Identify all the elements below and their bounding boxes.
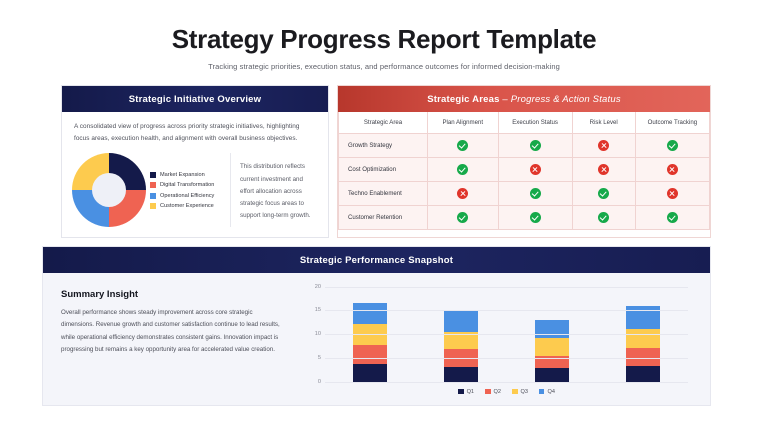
bar xyxy=(444,310,478,382)
right-panel-header-italic: Progress & Action Status xyxy=(511,94,621,105)
legend-item: Customer Experience xyxy=(150,203,214,209)
column-header-plan-alignment: Plan Alignment xyxy=(428,112,498,134)
bottom-panel-header: Strategic Performance Snapshot xyxy=(43,247,710,273)
right-panel-header: Strategic Areas – Progress & Action Stat… xyxy=(338,86,710,112)
distribution-note: This distribution reflects current inves… xyxy=(230,153,320,227)
cross-circle-icon xyxy=(530,164,541,175)
check-circle-icon xyxy=(598,188,609,199)
bar xyxy=(626,306,660,382)
cell-plan-alignment xyxy=(428,158,498,182)
bar-segment-q4 xyxy=(353,303,387,323)
cell-risk-level xyxy=(572,134,635,158)
status-table: Strategic Area Plan Alignment Execution … xyxy=(338,112,710,230)
cell-outcome-tracking xyxy=(635,182,709,206)
bar-chart: 05101520 xyxy=(325,287,688,382)
bar-chart-block: 05101520 Q1Q2Q3Q4 xyxy=(295,281,696,395)
bar-segment-q4 xyxy=(626,306,660,329)
page-subtitle: Tracking strategic priorities, execution… xyxy=(0,62,768,71)
bar-segment-q4 xyxy=(535,320,569,338)
legend-swatch-icon xyxy=(150,193,156,199)
gridline xyxy=(325,358,688,359)
strategic-initiative-overview-panel: Strategic Initiative Overview A consolid… xyxy=(61,85,329,238)
cell-strategic-area: Customer Retention xyxy=(339,206,428,230)
legend-swatch-icon xyxy=(539,389,545,395)
cell-risk-level xyxy=(572,182,635,206)
y-axis-tick: 5 xyxy=(303,355,321,361)
gridline xyxy=(325,334,688,335)
left-panel-body: Market Expansion Digital Transformation … xyxy=(62,153,328,237)
right-panel-header-sep: – xyxy=(500,94,511,105)
legend-swatch-icon xyxy=(150,172,156,178)
cell-outcome-tracking xyxy=(635,158,709,182)
check-circle-icon xyxy=(667,140,678,151)
bar-segment-q3 xyxy=(535,338,569,356)
legend-label: Q3 xyxy=(521,389,528,395)
legend-swatch-icon xyxy=(485,389,491,395)
top-row: Strategic Initiative Overview A consolid… xyxy=(61,85,711,238)
strategic-performance-snapshot-panel: Strategic Performance Snapshot Summary I… xyxy=(42,246,711,406)
cell-execution-status xyxy=(498,206,572,230)
check-circle-icon xyxy=(457,164,468,175)
donut-hole xyxy=(92,173,126,207)
page-title: Strategy Progress Report Template xyxy=(0,24,768,55)
table-row: Techno Enablement xyxy=(339,182,710,206)
cell-plan-alignment xyxy=(428,134,498,158)
legend-item: Market Expansion xyxy=(150,172,214,178)
cross-circle-icon xyxy=(457,188,468,199)
column-header-risk-level: Risk Level xyxy=(572,112,635,134)
bar-segment-q1 xyxy=(626,366,660,382)
cell-outcome-tracking xyxy=(635,206,709,230)
legend-swatch-icon xyxy=(512,389,518,395)
legend-label: Q1 xyxy=(467,389,474,395)
check-circle-icon xyxy=(598,212,609,223)
table-row: Growth Strategy xyxy=(339,134,710,158)
distribution-note-text: This distribution reflects current inves… xyxy=(240,161,314,221)
legend-item: Q3 xyxy=(512,389,528,395)
cell-outcome-tracking xyxy=(635,134,709,158)
cross-circle-icon xyxy=(667,164,678,175)
y-axis-tick: 20 xyxy=(303,284,321,290)
cell-strategic-area: Techno Enablement xyxy=(339,182,428,206)
bar-segment-q3 xyxy=(626,329,660,348)
cell-plan-alignment xyxy=(428,206,498,230)
bottom-panel-body: Summary Insight Overall performance show… xyxy=(43,273,710,405)
summary-insight-block: Summary Insight Overall performance show… xyxy=(43,281,295,395)
legend-label: Customer Experience xyxy=(160,203,214,209)
legend-item: Q2 xyxy=(485,389,501,395)
cross-circle-icon xyxy=(667,188,678,199)
status-table-body: Growth StrategyCost OptimizationTechno E… xyxy=(339,134,710,230)
cell-risk-level xyxy=(572,206,635,230)
legend-label: Operational Efficiency xyxy=(160,193,214,199)
gridline xyxy=(325,310,688,311)
column-header-execution-status: Execution Status xyxy=(498,112,572,134)
check-circle-icon xyxy=(457,212,468,223)
bar xyxy=(353,303,387,381)
right-panel-header-bold: Strategic Areas xyxy=(427,94,499,105)
column-header-strategic-area: Strategic Area xyxy=(339,112,428,134)
legend-item: Q1 xyxy=(458,389,474,395)
strategic-areas-panel: Strategic Areas – Progress & Action Stat… xyxy=(337,85,711,238)
table-row: Customer Retention xyxy=(339,206,710,230)
cell-execution-status xyxy=(498,134,572,158)
check-circle-icon xyxy=(530,140,541,151)
title-block: Strategy Progress Report Template Tracki… xyxy=(0,0,768,71)
legend-label: Q4 xyxy=(547,389,554,395)
cell-plan-alignment xyxy=(428,182,498,206)
legend-swatch-icon xyxy=(150,203,156,209)
legend-item: Digital Transformation xyxy=(150,182,214,188)
check-circle-icon xyxy=(667,212,678,223)
bar-segment-q1 xyxy=(535,368,569,381)
cross-circle-icon xyxy=(598,140,609,151)
cell-risk-level xyxy=(572,158,635,182)
legend-label: Digital Transformation xyxy=(160,182,214,188)
bar xyxy=(535,320,569,382)
cell-execution-status xyxy=(498,158,572,182)
cell-execution-status xyxy=(498,182,572,206)
donut-legend: Market Expansion Digital Transformation … xyxy=(150,170,214,210)
legend-label: Market Expansion xyxy=(160,172,205,178)
summary-insight-text: Overall performance shows steady improve… xyxy=(61,307,281,357)
y-axis-tick: 0 xyxy=(303,379,321,385)
left-panel-header: Strategic Initiative Overview xyxy=(62,86,328,112)
gridline xyxy=(325,287,688,288)
legend-swatch-icon xyxy=(150,182,156,188)
legend-item: Operational Efficiency xyxy=(150,193,214,199)
legend-label: Q2 xyxy=(494,389,501,395)
legend-swatch-icon xyxy=(458,389,464,395)
y-axis-tick: 10 xyxy=(303,331,321,337)
cross-circle-icon xyxy=(598,164,609,175)
bar-chart-legend: Q1Q2Q3Q4 xyxy=(325,389,688,395)
summary-insight-title: Summary Insight xyxy=(61,289,281,300)
table-header-row: Strategic Area Plan Alignment Execution … xyxy=(339,112,710,134)
check-circle-icon xyxy=(530,188,541,199)
cell-strategic-area: Cost Optimization xyxy=(339,158,428,182)
slide: Strategy Progress Report Template Tracki… xyxy=(0,0,768,432)
check-circle-icon xyxy=(530,212,541,223)
cell-strategic-area: Growth Strategy xyxy=(339,134,428,158)
donut-chart xyxy=(72,153,146,227)
y-axis-tick: 15 xyxy=(303,307,321,313)
table-row: Cost Optimization xyxy=(339,158,710,182)
donut-chart-block: Market Expansion Digital Transformation … xyxy=(70,153,230,227)
left-panel-description: A consolidated view of progress across p… xyxy=(62,112,328,153)
bar-segment-q1 xyxy=(444,367,478,382)
bar-segment-q2 xyxy=(353,345,387,364)
bar-segment-q1 xyxy=(353,364,387,382)
bar-segment-q4 xyxy=(444,310,478,332)
gridline xyxy=(325,382,688,383)
legend-item: Q4 xyxy=(539,389,555,395)
bar-segment-q2 xyxy=(626,348,660,366)
check-circle-icon xyxy=(457,140,468,151)
column-header-outcome-tracking: Outcome Tracking xyxy=(635,112,709,134)
